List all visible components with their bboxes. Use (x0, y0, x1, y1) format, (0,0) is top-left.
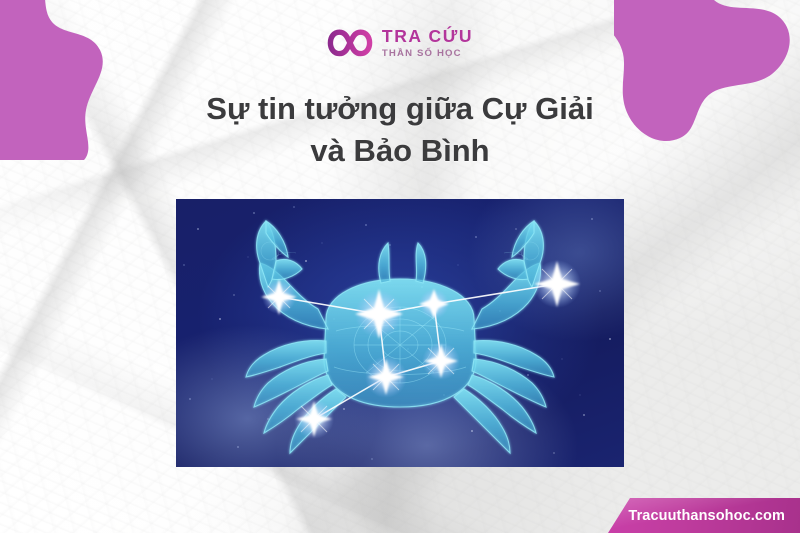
brand-logo-text: TRA CỨU THẦN SỐ HỌC (382, 28, 473, 58)
brand-subtitle: THẦN SỐ HỌC (382, 49, 473, 59)
zodiac-image (176, 199, 624, 467)
brand-title: TRA CỨU (382, 28, 473, 46)
poster-canvas: TRA CỨU THẦN SỐ HỌC Sự tin tưởng giữa Cự… (0, 0, 800, 533)
page-title-line-2: và Bảo Bình (70, 130, 730, 172)
watermark-banner: Tracuuthansohoc.com (594, 498, 800, 533)
infinity-icon (327, 28, 373, 58)
page-title-line-1: Sự tin tưởng giữa Cự Giải (70, 88, 730, 130)
constellation-overlay-icon (176, 199, 624, 467)
brand-logo: TRA CỨU THẦN SỐ HỌC (0, 28, 800, 58)
page-title: Sự tin tưởng giữa Cự Giải và Bảo Bình (70, 88, 730, 171)
watermark-url: Tracuuthansohoc.com (594, 508, 800, 524)
